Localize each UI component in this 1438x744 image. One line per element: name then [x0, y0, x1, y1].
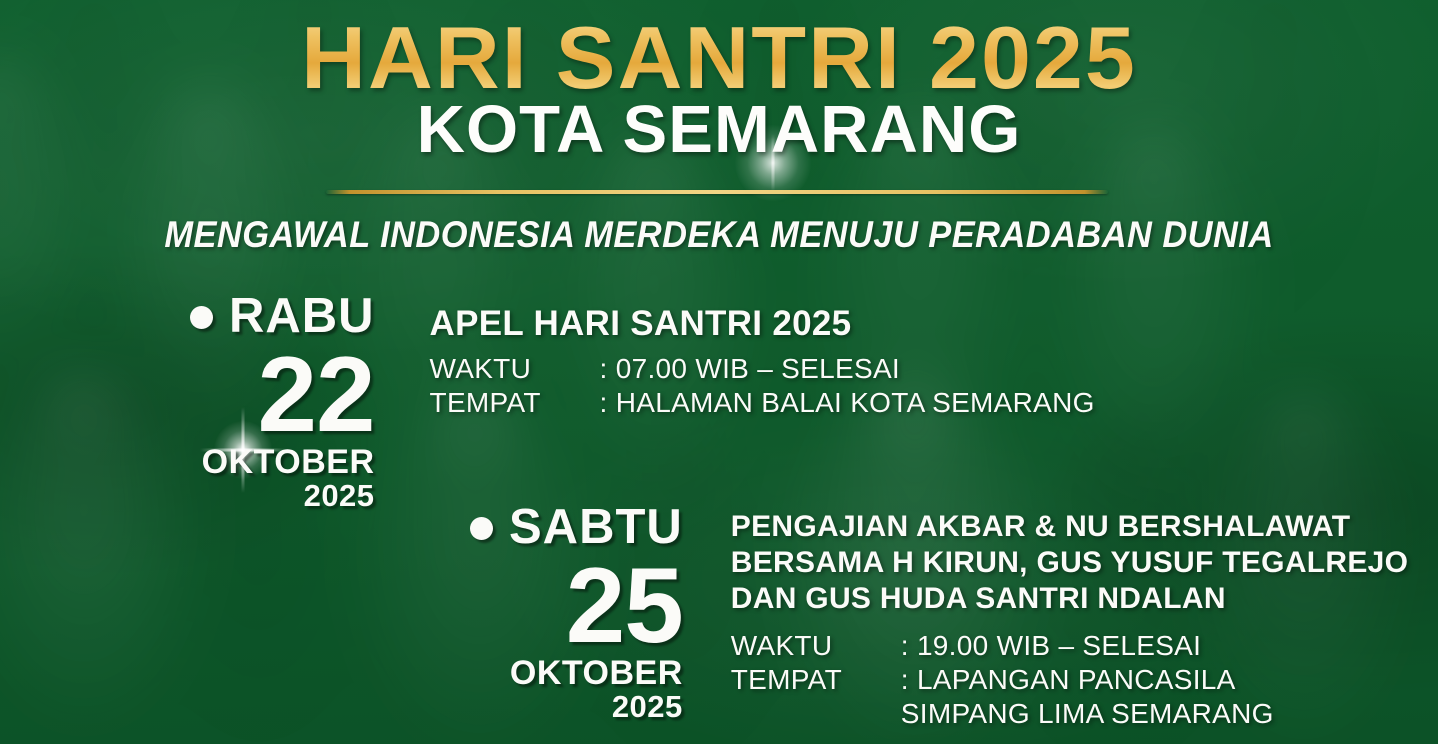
event-month: OKTOBER — [190, 445, 375, 479]
event-meta-row: WAKTU : 07.00 WIB – SELESAI — [430, 352, 1095, 386]
event-day-number: 22 — [190, 345, 375, 443]
tagline: MENGAWAL INDONESIA MERDEKA MENUJU PERADA… — [50, 214, 1387, 256]
event-date-block: SABTU 25 OKTOBER 2025 — [470, 503, 683, 724]
event-item: SABTU 25 OKTOBER 2025 PENGAJIAN AKBAR & … — [470, 503, 1408, 731]
event-title: APEL HARI SANTRI 2025 — [430, 304, 1095, 344]
event-meta-row: TEMPAT : LAPANGAN PANCASILA SIMPANG LIMA… — [731, 663, 1409, 731]
event-year: 2025 — [470, 690, 683, 723]
event-meta-row: TEMPAT : HALAMAN BALAI KOTA SEMARANG — [430, 386, 1095, 420]
event-meta-label: TEMPAT — [731, 663, 901, 731]
event-meta-label: TEMPAT — [430, 386, 600, 420]
event-meta-label: WAKTU — [731, 629, 901, 663]
event-meta-value: : LAPANGAN PANCASILA SIMPANG LIMA SEMARA… — [901, 663, 1274, 731]
page-subtitle: KOTA SEMARANG — [0, 96, 1438, 164]
event-year: 2025 — [190, 479, 375, 512]
event-item: RABU 22 OKTOBER 2025 APEL HARI SANTRI 20… — [190, 292, 1095, 513]
event-meta-list: WAKTU : 19.00 WIB – SELESAI TEMPAT : LAP… — [731, 629, 1409, 731]
event-info-block: APEL HARI SANTRI 2025 WAKTU : 07.00 WIB … — [430, 292, 1095, 420]
bullet-dot-icon — [190, 306, 213, 329]
event-meta-value: : 07.00 WIB – SELESAI — [600, 352, 900, 386]
event-date-block: RABU 22 OKTOBER 2025 — [190, 292, 375, 513]
event-title: PENGAJIAN AKBAR & NU BERSHALAWAT BERSAMA… — [731, 509, 1409, 617]
event-meta-value: : 19.00 WIB – SELESAI — [901, 629, 1201, 663]
event-meta-label: WAKTU — [430, 352, 600, 386]
event-month: OKTOBER — [470, 656, 683, 690]
gold-divider — [326, 190, 1108, 194]
event-day-number: 25 — [470, 556, 683, 654]
event-info-block: PENGAJIAN AKBAR & NU BERSHALAWAT BERSAMA… — [731, 503, 1409, 731]
event-meta-list: WAKTU : 07.00 WIB – SELESAI TEMPAT : HAL… — [430, 352, 1095, 420]
event-meta-row: WAKTU : 19.00 WIB – SELESAI — [731, 629, 1409, 663]
poster-header: HARI SANTRI 2025 KOTA SEMARANG — [0, 16, 1438, 165]
poster-canvas: HARI SANTRI 2025 KOTA SEMARANG MENGAWAL … — [0, 0, 1438, 744]
page-title: HARI SANTRI 2025 — [0, 16, 1438, 100]
event-meta-value: : HALAMAN BALAI KOTA SEMARANG — [600, 386, 1095, 420]
bullet-dot-icon — [470, 517, 493, 540]
